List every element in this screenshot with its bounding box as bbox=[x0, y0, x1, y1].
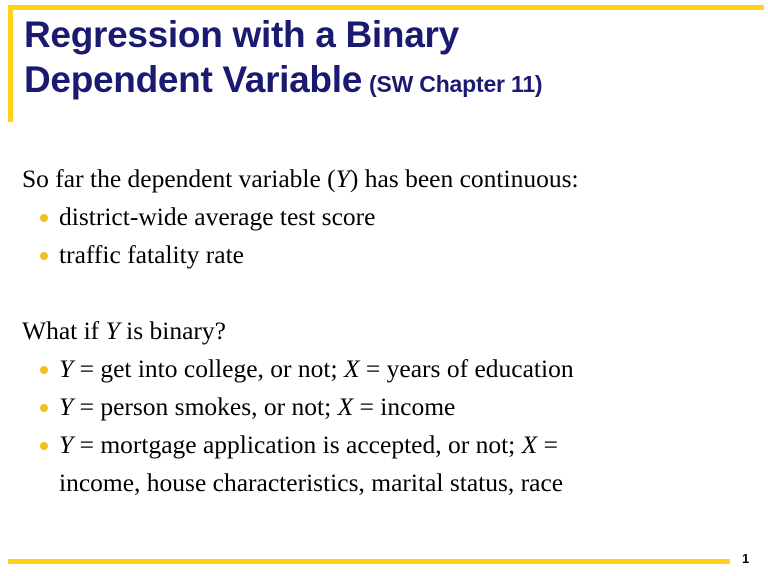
paragraph-spacer bbox=[22, 274, 722, 312]
list-item-text-tail: = bbox=[537, 430, 558, 459]
title-chapter-reference: (SW Chapter 11) bbox=[362, 71, 542, 97]
accent-rule-bottom bbox=[8, 559, 730, 564]
question-variable-y: Y bbox=[106, 316, 120, 345]
list-item-text-mid: = person smokes, or not; bbox=[73, 392, 337, 421]
list-item: Y = person smokes, or not; X = income bbox=[22, 388, 722, 426]
list-item-label: Y = mortgage application is accepted, or… bbox=[59, 426, 563, 502]
variable-x: X bbox=[338, 392, 354, 421]
list-item-text-mid: = mortgage application is accepted, or n… bbox=[73, 430, 521, 459]
intro-text-before: So far the dependent variable ( bbox=[22, 164, 336, 193]
page-number: 1 bbox=[742, 551, 749, 566]
list-item-label: Y = get into college, or not; X = years … bbox=[59, 350, 574, 388]
slide-body: So far the dependent variable (Y) has be… bbox=[22, 160, 722, 502]
list-item-label: traffic fatality rate bbox=[59, 236, 244, 274]
question-paragraph: What if Y is binary? bbox=[22, 312, 722, 350]
intro-paragraph: So far the dependent variable (Y) has be… bbox=[22, 160, 722, 198]
bullet-dot-icon bbox=[40, 442, 48, 450]
intro-text-after: ) has been continuous: bbox=[350, 164, 579, 193]
list-item-label: district-wide average test score bbox=[59, 198, 375, 236]
list-item: traffic fatality rate bbox=[22, 236, 722, 274]
question-text-after: is binary? bbox=[120, 316, 226, 345]
list-item-text-tail: = years of education bbox=[360, 354, 574, 383]
title-line-2: Dependent Variable(SW Chapter 11) bbox=[24, 57, 724, 107]
variable-x: X bbox=[344, 354, 360, 383]
bullet-dot-icon bbox=[40, 366, 48, 374]
list-item: Y = mortgage application is accepted, or… bbox=[22, 426, 722, 502]
variable-x: X bbox=[522, 430, 538, 459]
title-line-2-text: Dependent Variable bbox=[24, 59, 362, 100]
list-item-text-wrapped: income, house characteristics, marital s… bbox=[59, 464, 563, 502]
variable-y: Y bbox=[59, 392, 73, 421]
variable-y: Y bbox=[59, 354, 73, 383]
list-item-text-mid: = get into college, or not; bbox=[73, 354, 344, 383]
question-text-before: What if bbox=[22, 316, 106, 345]
bullet-dot-icon bbox=[40, 252, 48, 260]
variable-y: Y bbox=[59, 430, 73, 459]
list-item-text-tail: = income bbox=[353, 392, 455, 421]
list-item: district-wide average test score bbox=[22, 198, 722, 236]
intro-variable-y: Y bbox=[336, 164, 350, 193]
list-item-label: Y = person smokes, or not; X = income bbox=[59, 388, 455, 426]
accent-rule-left bbox=[8, 5, 13, 122]
bullet-dot-icon bbox=[40, 214, 48, 222]
list-item: Y = get into college, or not; X = years … bbox=[22, 350, 722, 388]
accent-rule-top bbox=[8, 5, 764, 10]
slide-title: Regression with a Binary Dependent Varia… bbox=[24, 12, 724, 107]
title-line-1: Regression with a Binary bbox=[24, 12, 724, 57]
bullet-dot-icon bbox=[40, 404, 48, 412]
